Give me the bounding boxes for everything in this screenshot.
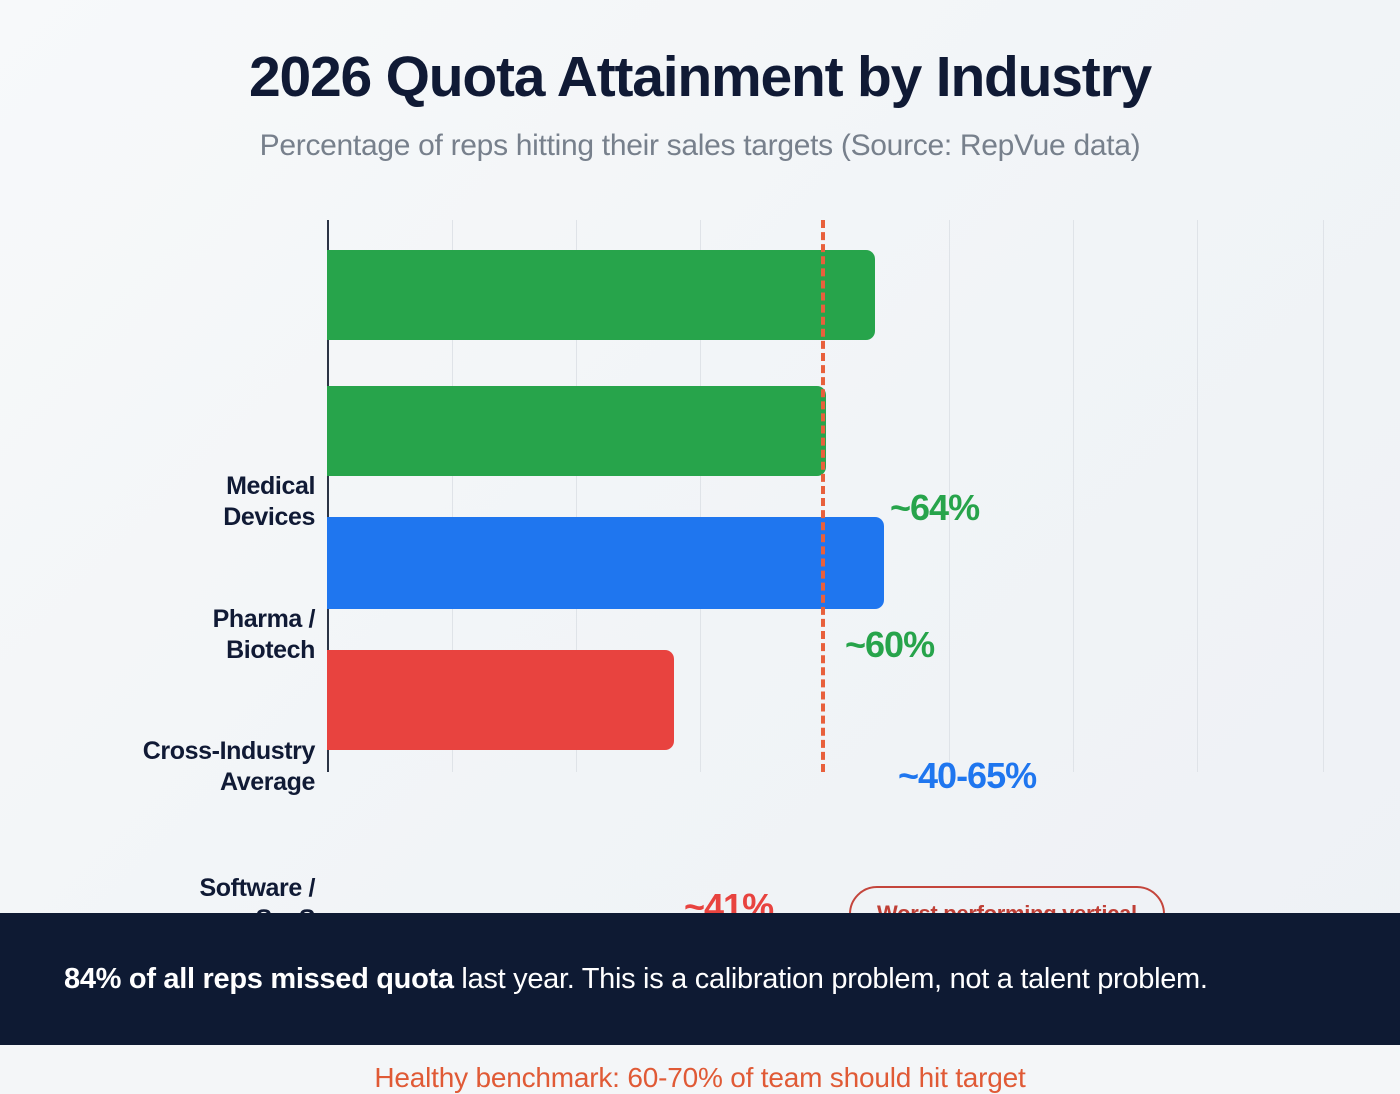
- chart-subtitle: Percentage of reps hitting their sales t…: [0, 129, 1400, 163]
- bar-value-label: ~40-65%: [898, 755, 1036, 797]
- plot-area: MedicalDevicesPharma /BiotechCross-Indus…: [0, 212, 1400, 772]
- footer-rest: last year. This is a calibration problem…: [454, 963, 1208, 995]
- gridline: [1073, 220, 1074, 772]
- bar: [327, 250, 875, 340]
- category-label-line: Biotech: [213, 635, 315, 666]
- category-label-line: Software /: [200, 873, 315, 904]
- page-title: 2026 Quota Attainment by Industry: [0, 46, 1400, 109]
- category-label-line: Cross-Industry: [143, 736, 315, 767]
- benchmark-caption: Healthy benchmark: 60-70% of team should…: [0, 1062, 1400, 1094]
- category-label-line: Average: [143, 767, 315, 798]
- gridline: [1323, 220, 1324, 772]
- bar-value-label: ~60%: [845, 624, 934, 666]
- bar: [327, 650, 674, 750]
- category-label: MedicalDevices: [223, 471, 315, 532]
- bar: [327, 386, 826, 476]
- bar: [327, 517, 884, 609]
- chart-canvas: 2026 Quota Attainment by Industry Percen…: [0, 0, 1400, 1045]
- category-label-line: Medical: [223, 471, 315, 502]
- category-label-line: Devices: [223, 502, 315, 533]
- benchmark-reference-line: [821, 220, 825, 772]
- gridline: [1197, 220, 1198, 772]
- category-label: Cross-IndustryAverage: [143, 736, 315, 797]
- chart-header: 2026 Quota Attainment by Industry Percen…: [0, 46, 1400, 163]
- footer-banner: 84% of all reps missed quota last year. …: [0, 913, 1400, 1045]
- footer-takeaway: 84% of all reps missed quota last year. …: [64, 963, 1208, 996]
- category-label: Pharma /Biotech: [213, 604, 315, 665]
- category-label-line: Pharma /: [213, 604, 315, 635]
- footer-lead: 84% of all reps missed quota: [64, 963, 454, 995]
- bar-value-label: ~64%: [890, 487, 979, 529]
